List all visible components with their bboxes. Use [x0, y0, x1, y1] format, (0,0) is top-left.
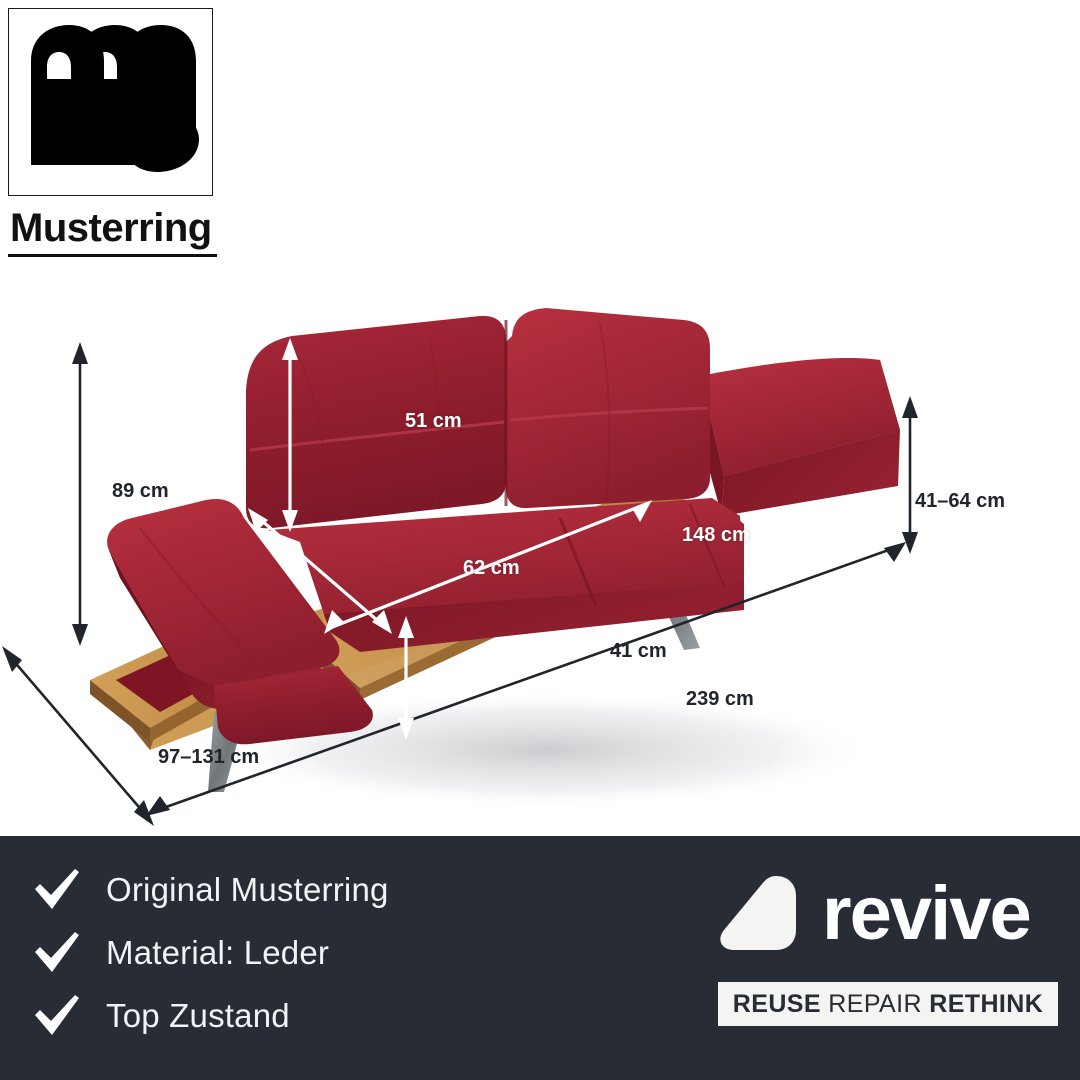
feature-label: Top Zustand	[106, 999, 290, 1032]
dimension-seat-depth: 62 cm	[463, 557, 520, 580]
tagline-word-1: REUSE	[733, 990, 821, 1019]
brand-logo: Musterring	[8, 8, 223, 257]
revive-leaf-icon	[718, 874, 804, 954]
feature-label: Original Musterring	[106, 873, 389, 906]
product-stage: 89 cm 51 cm 41–64 cm 62 cm 148 cm 41 cm …	[0, 280, 1080, 835]
product-image-card: Musterring	[0, 0, 1080, 1080]
check-icon	[30, 926, 84, 980]
feature-list: Original Musterring Material: Leder Top …	[30, 858, 389, 1047]
list-item: Top Zustand	[30, 984, 389, 1047]
check-icon	[30, 989, 84, 1043]
tagline-word-2: REPAIR	[828, 990, 922, 1019]
dimension-seat-height: 41 cm	[610, 640, 667, 663]
feature-banner: Original Musterring Material: Leder Top …	[0, 836, 1080, 1080]
revive-logo: revive REUSE REPAIR RETHINK	[718, 860, 1058, 1026]
dimension-total-width: 239 cm	[686, 688, 754, 711]
brand-underline	[8, 254, 217, 257]
dimension-depth-range: 97–131 cm	[158, 746, 259, 769]
list-item: Material: Leder	[30, 921, 389, 984]
dimension-height: 89 cm	[112, 480, 169, 503]
musterring-monogram-icon	[8, 8, 213, 196]
tagline-word-3: RETHINK	[929, 990, 1043, 1019]
brand-name: Musterring	[8, 208, 223, 248]
dimension-armrest: 41–64 cm	[915, 490, 1005, 513]
check-icon	[30, 863, 84, 917]
feature-label: Material: Leder	[106, 936, 329, 969]
dimension-backrest: 51 cm	[405, 410, 462, 433]
revive-tagline: REUSE REPAIR RETHINK	[718, 982, 1058, 1026]
list-item: Original Musterring	[30, 858, 389, 921]
revive-wordmark: revive	[822, 876, 1030, 952]
dimension-seat-width: 148 cm	[682, 524, 750, 547]
